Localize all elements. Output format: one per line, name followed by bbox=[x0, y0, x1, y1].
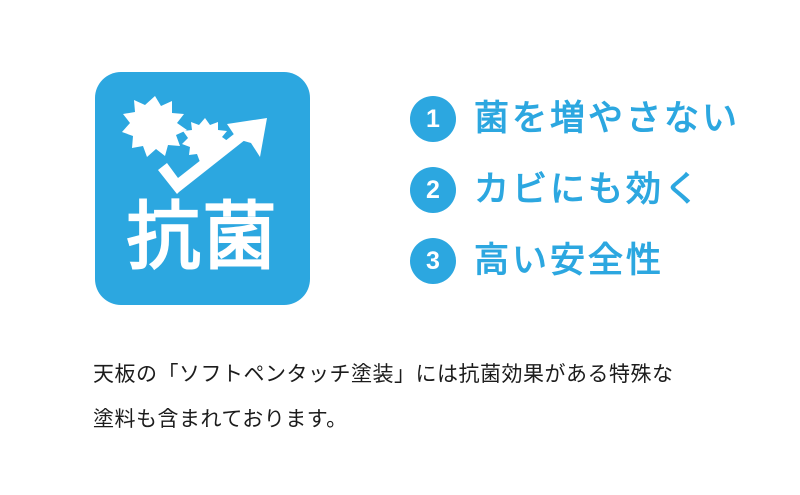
feature-number-badge: 3 bbox=[410, 238, 456, 284]
feature-item-3: 3 高い安全性 bbox=[410, 234, 780, 288]
feature-label: カビにも効く bbox=[474, 167, 702, 213]
feature-number-badge: 2 bbox=[410, 167, 456, 213]
description-line-2: 塗料も含まれております。 bbox=[93, 397, 753, 442]
top-band: 抗菌 1 菌を増やさない 2 カビにも効く 3 高い安全性 bbox=[0, 0, 800, 330]
tile-kanji-label: 抗菌 bbox=[95, 194, 310, 280]
description-line-1: 天板の「ソフトペンタッチ塗装」には抗菌効果がある特殊な bbox=[93, 352, 753, 397]
feature-label: 高い安全性 bbox=[474, 238, 664, 284]
antibacterial-icon-tile: 抗菌 bbox=[95, 72, 310, 305]
germ-starburst-large-icon bbox=[122, 96, 187, 157]
feature-item-2: 2 カビにも効く bbox=[410, 163, 780, 217]
feature-label: 菌を増やさない bbox=[474, 96, 740, 142]
germ-trend-graphic bbox=[115, 88, 290, 198]
feature-number-badge: 1 bbox=[410, 96, 456, 142]
antibacterial-feature-panel: 抗菌 1 菌を増やさない 2 カビにも効く 3 高い安全性 天板の「ソフトペンタ… bbox=[0, 0, 800, 495]
description-paragraph: 天板の「ソフトペンタッチ塗装」には抗菌効果がある特殊な 塗料も含まれております。 bbox=[93, 352, 753, 442]
feature-list: 1 菌を増やさない 2 カビにも効く 3 高い安全性 bbox=[410, 92, 780, 288]
feature-item-1: 1 菌を増やさない bbox=[410, 92, 780, 146]
